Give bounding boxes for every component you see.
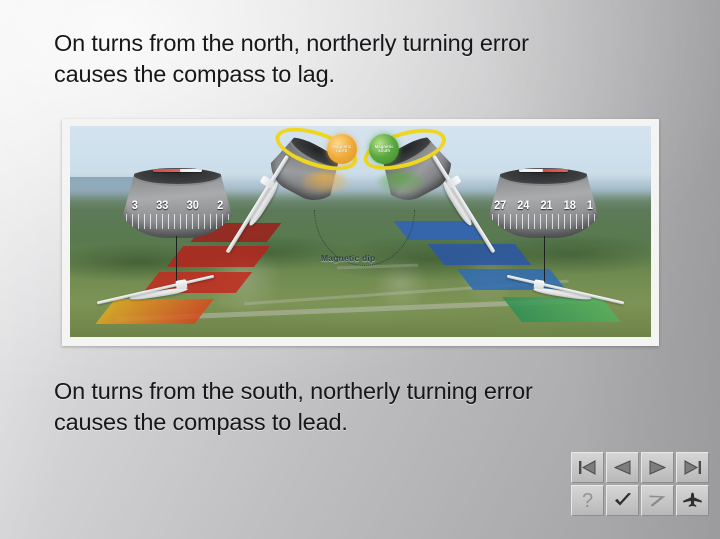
airplane-lower-right-tail	[534, 279, 546, 290]
takeoff-button[interactable]	[641, 485, 674, 516]
badge-magnetic-south-label: Magnetic south	[371, 145, 397, 155]
compass-right-number-4: 1	[587, 200, 593, 213]
plane-takeoff-icon	[648, 493, 668, 509]
compass-left-number-0: 3	[132, 200, 138, 213]
caption-top-line-2: causes the compass to lag.	[54, 59, 674, 90]
caption-top-line-1: On turns from the north, northerly turni…	[54, 28, 674, 59]
question-mark-icon: ?	[582, 491, 593, 511]
play-forward-icon	[648, 460, 667, 475]
checkmark-icon	[613, 492, 633, 509]
skip-back-icon	[578, 460, 597, 475]
airplane-mid-right-fuselage	[440, 180, 475, 228]
navigation-panel: ?	[571, 452, 709, 516]
caption-bottom-line-2: causes the compass to lead.	[54, 407, 674, 438]
illustration-frame: 3 33 30 2 27 24	[62, 119, 659, 346]
compass-left-face	[131, 168, 224, 185]
first-slide-button[interactable]	[571, 452, 604, 483]
skip-forward-icon	[683, 460, 702, 475]
play-back-icon	[613, 460, 632, 475]
compass-right-number-2: 21	[540, 200, 552, 213]
presentation-slide: On turns from the north, northerly turni…	[0, 0, 720, 539]
compass-right-number-3: 18	[564, 200, 576, 213]
help-button[interactable]: ?	[571, 485, 604, 516]
badge-magnetic-north-label: Magnetic north	[329, 145, 355, 155]
compass-left-number-2: 30	[187, 200, 199, 213]
compass-right-number-1: 24	[517, 200, 529, 213]
caption-top: On turns from the north, northerly turni…	[54, 28, 674, 89]
exit-button[interactable]	[676, 485, 709, 516]
check-answer-button[interactable]	[606, 485, 639, 516]
aerial-photo: 3 33 30 2 27 24	[70, 126, 651, 337]
previous-slide-button[interactable]	[606, 452, 639, 483]
magnetic-dip-label: Magnetic dip	[321, 253, 375, 263]
airplane-icon	[682, 492, 703, 509]
caption-bottom: On turns from the south, northerly turni…	[54, 376, 674, 437]
compass-left-number-1: 33	[156, 200, 168, 213]
compass-right-needle	[519, 169, 569, 172]
caption-bottom-line-1: On turns from the south, northerly turni…	[54, 376, 674, 407]
airplane-mid-left-fuselage	[246, 180, 281, 228]
airplane-lower-left-tail	[176, 279, 188, 290]
compass-left-needle	[153, 169, 203, 172]
compass-right-face	[497, 168, 590, 185]
next-slide-button[interactable]	[641, 452, 674, 483]
last-slide-button[interactable]	[676, 452, 709, 483]
